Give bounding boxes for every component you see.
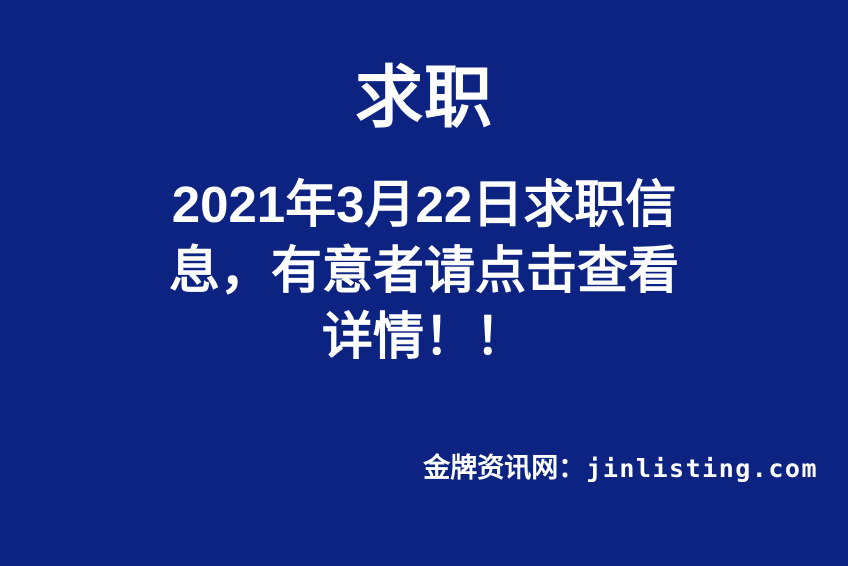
page-title: 求职 <box>0 62 848 135</box>
announcement-line-3: 详情！！ <box>0 304 848 370</box>
announcement-text: 2021年3月22日求职信 息，有意者请点击查看 详情！！ <box>0 172 848 370</box>
site-name-label: 金牌资讯网： <box>423 446 585 485</box>
site-credit: 金牌资讯网： jinlisting.com <box>423 446 818 485</box>
poster-canvas: 求职 2021年3月22日求职信 息，有意者请点击查看 详情！！ 金牌资讯网： … <box>0 0 848 566</box>
announcement-line-1: 2021年3月22日求职信 <box>0 172 848 238</box>
announcement-line-2: 息，有意者请点击查看 <box>0 238 848 304</box>
site-url-label: jinlisting.com <box>586 454 818 483</box>
